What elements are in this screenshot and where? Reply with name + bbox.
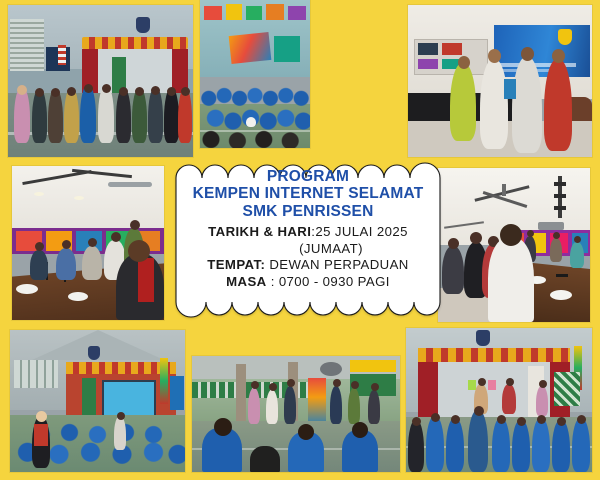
panel-place-label: TEMPAT: [207, 257, 265, 272]
panel-time-value: : 0700 - 0930 PAGI [271, 274, 390, 289]
photo-meeting-room-wide [438, 168, 590, 322]
photo-group-hall-stage [8, 5, 193, 157]
panel-date-row: TARIKH & HARI:25 JULAI 2025 [208, 224, 408, 241]
panel-title-line-1: PROGRAM [267, 168, 349, 185]
panel-day-value: (JUMAAT) [253, 241, 363, 258]
photo-stage-activity [406, 328, 592, 472]
panel-place-value: DEWAN PERPADUAN [269, 257, 408, 272]
panel-date-label: TARIKH & HARI [208, 224, 311, 239]
photo-presentation-handover [408, 5, 592, 157]
panel-time-label: MASA [226, 274, 266, 289]
photo-students-seated-hall [200, 0, 310, 148]
photo-assembly-screen [10, 330, 185, 472]
poster-canvas: PROGRAM KEMPEN INTERNET SELAMAT SMK PENR… [0, 0, 600, 480]
panel-title-line-3: SMK PENRISSEN [243, 203, 374, 220]
photo-meeting-room-table [12, 166, 164, 320]
panel-place-row: TEMPAT: DEWAN PERPADUAN [207, 257, 408, 274]
panel-date-value: :25 JULAI 2025 [311, 224, 408, 239]
panel-time-row: MASA : 0700 - 0930 PAGI [226, 274, 390, 291]
photo-outdoor-gathering [192, 356, 400, 472]
panel-day-row: (JUMAAT) [253, 241, 363, 258]
info-panel: PROGRAM KEMPEN INTERNET SELAMAT SMK PENR… [168, 152, 448, 328]
panel-title-line-2: KEMPEN INTERNET SELAMAT [193, 185, 424, 202]
